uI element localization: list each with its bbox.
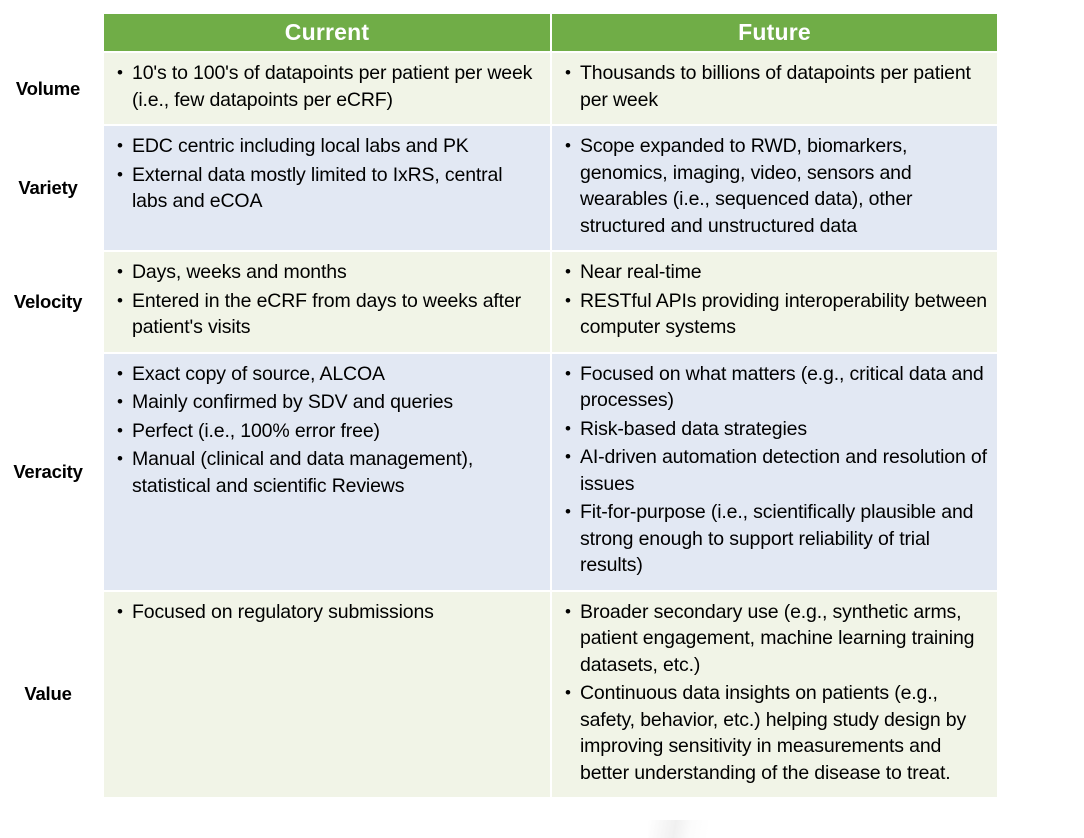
list-item: Thousands to billions of datapoints per …	[562, 60, 987, 113]
bullet-list-value-future: Broader secondary use (e.g., synthetic a…	[562, 599, 987, 787]
list-item: 10's to 100's of datapoints per patient …	[114, 60, 540, 113]
bullet-list-value-current: Focused on regulatory submissions	[114, 599, 540, 626]
current-vs-future-table: Current Future Volume 10's to 100's of d…	[0, 13, 999, 799]
row-label-veracity: Veracity	[0, 353, 103, 591]
image-artifact	[648, 820, 708, 838]
list-item: Continuous data insights on patients (e.…	[562, 680, 987, 786]
list-item: Days, weeks and months	[114, 259, 540, 286]
row-label-value: Value	[0, 591, 103, 799]
cell-volume-future: Thousands to billions of datapoints per …	[551, 52, 998, 125]
comparison-table-container: Current Future Volume 10's to 100's of d…	[0, 0, 1084, 838]
cell-variety-future: Scope expanded to RWD, biomarkers, genom…	[551, 125, 998, 251]
cell-variety-current: EDC centric including local labs and PK …	[103, 125, 551, 251]
cell-velocity-current: Days, weeks and months Entered in the eC…	[103, 251, 551, 353]
column-header-current: Current	[103, 14, 551, 53]
bullet-list-veracity-current: Exact copy of source, ALCOA Mainly confi…	[114, 361, 540, 500]
cell-velocity-future: Near real-time RESTful APIs providing in…	[551, 251, 998, 353]
list-item: Perfect (i.e., 100% error free)	[114, 418, 540, 445]
table-header: Current Future	[0, 14, 998, 53]
list-item: EDC centric including local labs and PK	[114, 133, 540, 160]
list-item: Fit-for-purpose (i.e., scientifically pl…	[562, 499, 987, 579]
table-row-volume: Volume 10's to 100's of datapoints per p…	[0, 52, 998, 125]
table-row-velocity: Velocity Days, weeks and months Entered …	[0, 251, 998, 353]
column-header-future: Future	[551, 14, 998, 53]
list-item: Manual (clinical and data management), s…	[114, 446, 540, 499]
bullet-list-variety-future: Scope expanded to RWD, biomarkers, genom…	[562, 133, 987, 239]
cell-value-future: Broader secondary use (e.g., synthetic a…	[551, 591, 998, 799]
row-label-volume: Volume	[0, 52, 103, 125]
list-item: Focused on regulatory submissions	[114, 599, 540, 626]
list-item: Exact copy of source, ALCOA	[114, 361, 540, 388]
table-row-value: Value Focused on regulatory submissions …	[0, 591, 998, 799]
cell-veracity-current: Exact copy of source, ALCOA Mainly confi…	[103, 353, 551, 591]
list-item: Near real-time	[562, 259, 987, 286]
bullet-list-variety-current: EDC centric including local labs and PK …	[114, 133, 540, 215]
table-body: Volume 10's to 100's of datapoints per p…	[0, 52, 998, 798]
list-item: Scope expanded to RWD, biomarkers, genom…	[562, 133, 987, 239]
bullet-list-volume-current: 10's to 100's of datapoints per patient …	[114, 60, 540, 113]
list-item: AI-driven automation detection and resol…	[562, 444, 987, 497]
bullet-list-volume-future: Thousands to billions of datapoints per …	[562, 60, 987, 113]
bullet-list-veracity-future: Focused on what matters (e.g., critical …	[562, 361, 987, 579]
list-item: Focused on what matters (e.g., critical …	[562, 361, 987, 414]
table-row-variety: Variety EDC centric including local labs…	[0, 125, 998, 251]
cell-volume-current: 10's to 100's of datapoints per patient …	[103, 52, 551, 125]
list-item: Entered in the eCRF from days to weeks a…	[114, 288, 540, 341]
bullet-list-velocity-future: Near real-time RESTful APIs providing in…	[562, 259, 987, 341]
list-item: Risk-based data strategies	[562, 416, 987, 443]
table-row-veracity: Veracity Exact copy of source, ALCOA Mai…	[0, 353, 998, 591]
page-root: Current Future Volume 10's to 100's of d…	[0, 0, 1084, 838]
header-row: Current Future	[0, 14, 998, 53]
row-label-velocity: Velocity	[0, 251, 103, 353]
list-item: External data mostly limited to IxRS, ce…	[114, 162, 540, 215]
list-item: RESTful APIs providing interoperability …	[562, 288, 987, 341]
cell-veracity-future: Focused on what matters (e.g., critical …	[551, 353, 998, 591]
list-item: Broader secondary use (e.g., synthetic a…	[562, 599, 987, 679]
header-corner-blank	[0, 14, 103, 53]
row-label-variety: Variety	[0, 125, 103, 251]
list-item: Mainly confirmed by SDV and queries	[114, 389, 540, 416]
bullet-list-velocity-current: Days, weeks and months Entered in the eC…	[114, 259, 540, 341]
cell-value-current: Focused on regulatory submissions	[103, 591, 551, 799]
